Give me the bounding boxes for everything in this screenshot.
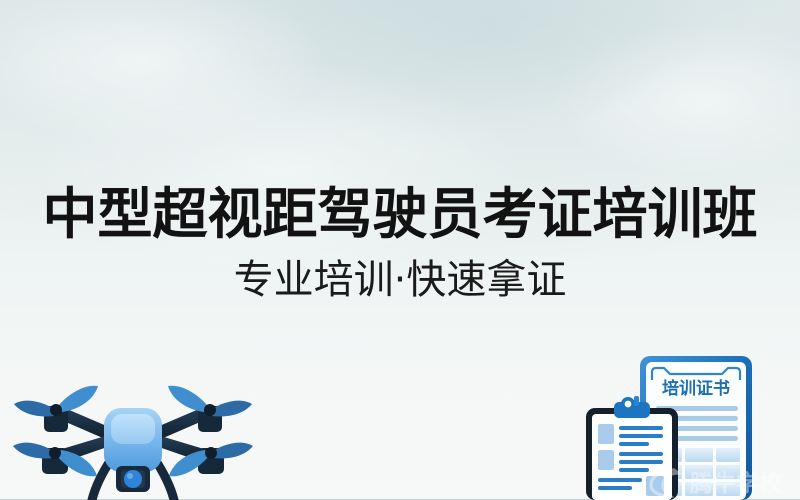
drone-icon bbox=[8, 372, 258, 500]
drone-illustration bbox=[8, 372, 258, 500]
certificate-icon: 培训证书 bbox=[568, 350, 800, 500]
page-title: 中型超视距驾驶员考证培训班 bbox=[0, 186, 800, 244]
certificate-title: 培训证书 bbox=[662, 378, 730, 399]
page-subtitle: 专业培训·快速拿证 bbox=[0, 258, 800, 302]
drone-body bbox=[104, 408, 162, 472]
drone-camera bbox=[116, 466, 150, 492]
certificate-illustration: 培训证书 bbox=[568, 350, 800, 500]
clipboard bbox=[586, 396, 678, 500]
text-block: 中型超视距驾驶员考证培训班 专业培训·快速拿证 bbox=[0, 186, 800, 302]
promo-banner: 培训证书 bbox=[0, 0, 800, 500]
